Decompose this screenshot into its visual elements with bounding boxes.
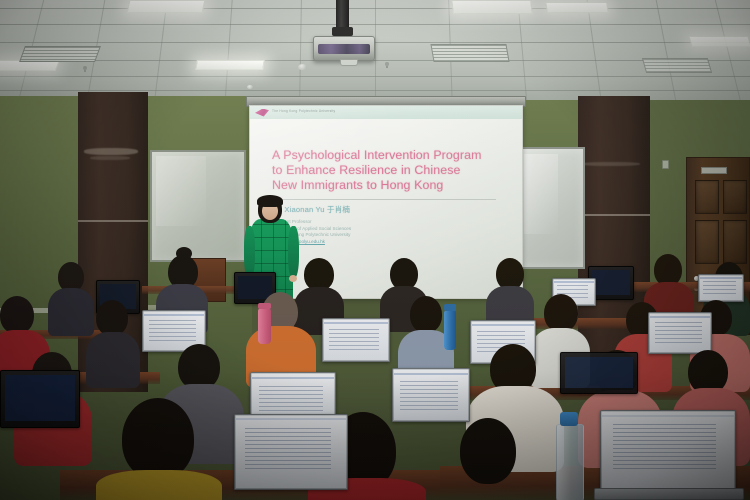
whiteboard-left	[150, 150, 246, 262]
door-panel	[695, 180, 719, 214]
audience-head	[410, 296, 442, 333]
slide-author: Dr. Xiaonan Yu 于肖楠	[272, 204, 350, 215]
ceiling-light-panel	[545, 2, 609, 13]
audience-body	[86, 332, 140, 388]
laptop-foreground[interactable]	[600, 410, 736, 492]
audience-head	[96, 300, 128, 336]
bottle-cap	[560, 412, 578, 426]
audience-hair-bun	[176, 247, 192, 260]
bottle-cap	[444, 304, 456, 311]
ceiling-dome-fixture	[298, 64, 307, 70]
water-bottle[interactable]	[444, 310, 456, 350]
ceiling-light-panel	[127, 0, 206, 13]
slide-title-line-1: A Psychological Intervention Program	[272, 148, 502, 163]
slide-divider	[272, 199, 496, 200]
laptop-foreground[interactable]	[234, 414, 348, 490]
projector-mount-collar	[332, 27, 353, 36]
classroom-presentation-photo: The Hong Kong Polytechnic University A P…	[0, 0, 750, 500]
audience-body-foreground	[96, 470, 222, 500]
water-bottle[interactable]	[258, 308, 271, 344]
audience-head	[544, 294, 578, 332]
laptop[interactable]	[648, 312, 712, 354]
water-bottle-foreground[interactable]	[556, 424, 584, 500]
air-vent	[430, 44, 509, 62]
sprinkler-head	[83, 66, 87, 70]
slide-title-line-2: to Enhance Resilience in Chinese	[272, 163, 502, 178]
audience-head-foreground	[122, 398, 194, 480]
wall-switch-right[interactable]	[662, 160, 669, 169]
ceiling-dome-fixture	[247, 85, 253, 89]
laptop[interactable]	[698, 274, 744, 302]
bottle-cap	[258, 303, 271, 309]
ceiling-tile-grid	[0, 0, 750, 106]
ceiling-light-panel	[195, 60, 264, 70]
whiteboard-right	[519, 147, 585, 269]
presenter-arm-right	[288, 226, 299, 278]
laptop[interactable]	[322, 318, 390, 362]
air-vent	[19, 46, 101, 62]
door-panel	[723, 220, 747, 264]
air-vent	[642, 58, 712, 73]
presenter-hair	[257, 195, 283, 207]
ceiling	[0, 0, 750, 106]
ceiling-light-panel	[451, 0, 532, 14]
audience-head	[0, 296, 34, 334]
projector-foot	[340, 59, 358, 66]
desktop-monitor[interactable]	[560, 352, 638, 394]
door-sign-plate	[701, 167, 727, 174]
slide-title: A Psychological Intervention Program to …	[272, 148, 502, 194]
desktop-monitor[interactable]	[0, 370, 80, 428]
door-panel	[723, 180, 747, 214]
laptop-keyboard-base[interactable]	[594, 488, 744, 500]
slide-title-line-3: New Immigrants to Hong Kong	[272, 178, 502, 193]
audience-head-foreground	[460, 418, 516, 484]
door-panel	[695, 220, 719, 264]
ceiling-light-panel	[688, 36, 750, 47]
audience-body	[48, 288, 94, 336]
ceiling-projector	[313, 36, 375, 61]
presenter-arm-left	[244, 226, 255, 278]
laptop[interactable]	[392, 368, 470, 422]
presenter-hand-right	[289, 275, 297, 282]
slide-logo-text: The Hong Kong Polytechnic University	[272, 109, 335, 113]
projector-lens-panel	[318, 44, 371, 54]
projector-mount-pole	[336, 0, 349, 28]
